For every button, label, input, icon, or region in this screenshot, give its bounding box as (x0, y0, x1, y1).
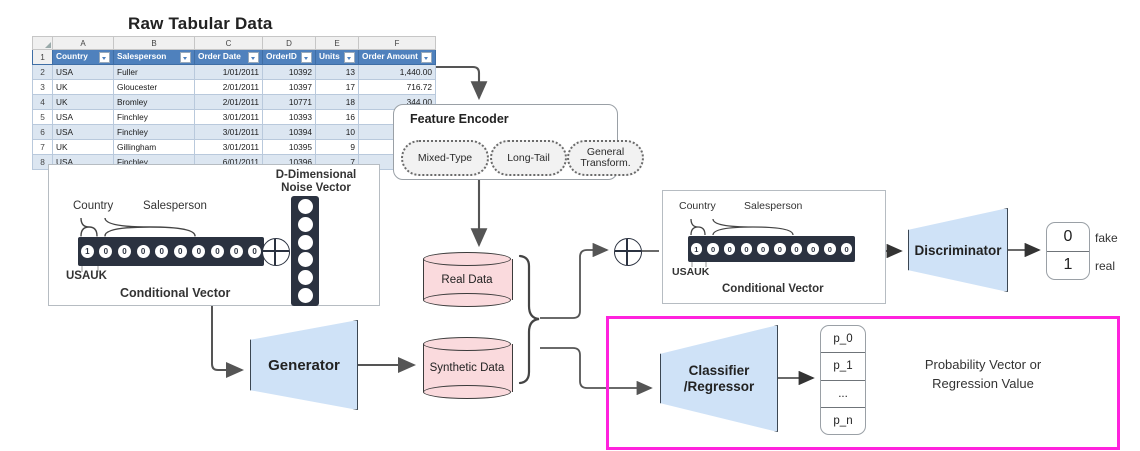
table-row[interactable]: 3 UK Gloucester 2/01/2011 10397 17 716.7… (33, 80, 436, 95)
discriminator-output-stack[interactable]: 0 1 (1046, 222, 1090, 280)
row-number[interactable]: 7 (33, 140, 53, 155)
cell-salesperson[interactable]: Fuller (114, 65, 195, 80)
table-row[interactable]: 5 USA Finchley 3/01/2011 10393 16 2,556.… (33, 110, 436, 125)
cell-orderid[interactable]: 10393 (263, 110, 316, 125)
feature-encoder-pill-general-transform[interactable]: General Transform. (567, 140, 644, 176)
row-number[interactable]: 5 (33, 110, 53, 125)
usauk-label-left: USAUK (66, 270, 107, 282)
conditional-vector-label-left: Conditional Vector (120, 286, 230, 300)
feature-encoder-title: Feature Encoder (410, 112, 509, 126)
cell-country[interactable]: USA (53, 110, 114, 125)
d-dimensional-noise-vector[interactable] (291, 196, 319, 306)
cell-units[interactable]: 16 (316, 110, 359, 125)
cell-order-date[interactable]: 3/01/2011 (195, 125, 263, 140)
discriminator-output-real-label: real (1095, 259, 1115, 273)
usauk-label-right: USAUK (672, 266, 709, 278)
cell-salesperson[interactable]: Gloucester (114, 80, 195, 95)
cell-orderid[interactable]: 10392 (263, 65, 316, 80)
vector-cell[interactable]: 0 (230, 245, 243, 258)
discriminator-output-real-value: 1 (1047, 252, 1089, 280)
probability-cell-ellipsis: ... (821, 381, 865, 408)
row-number[interactable]: 6 (33, 125, 53, 140)
cell-orderid[interactable]: 10395 (263, 140, 316, 155)
noise-dot (298, 217, 313, 232)
column-letter-row: A B C D E F (33, 37, 436, 50)
cell-units[interactable]: 17 (316, 80, 359, 95)
vector-cell[interactable]: 0 (807, 243, 819, 255)
header-cell-country[interactable]: Country (53, 50, 114, 65)
diagram-canvas: Raw Tabular Data A B C D E F 1 Country (0, 0, 1140, 451)
noise-dot (298, 270, 313, 285)
cell-country[interactable]: USA (53, 65, 114, 80)
header-cell-units[interactable]: Units (316, 50, 359, 65)
filter-dropdown-icon[interactable] (180, 52, 191, 63)
discriminator-block[interactable]: Discriminator (908, 208, 1008, 292)
cell-salesperson[interactable]: Finchley (114, 110, 195, 125)
cell-country[interactable]: UK (53, 95, 114, 110)
conditional-vector-bar-right[interactable]: 1 0 0 0 0 0 0 0 0 0 (688, 236, 855, 262)
country-group-label-right: Country (679, 200, 716, 212)
discriminator-output-fake-label: fake (1095, 231, 1118, 245)
header-cell-order-amount[interactable]: Order Amount (359, 50, 436, 65)
cell-order-amount[interactable]: 1,440.00 (359, 65, 436, 80)
table-row[interactable]: 6 USA Finchley 3/01/2011 10394 10 442.00 (33, 125, 436, 140)
vector-cell[interactable]: 0 (192, 245, 205, 258)
noise-dot (298, 235, 313, 250)
filter-dropdown-icon[interactable] (301, 52, 312, 63)
header-cell-order-date[interactable]: Order Date (195, 50, 263, 65)
vector-cell[interactable]: 0 (155, 245, 168, 258)
cell-orderid[interactable]: 10394 (263, 125, 316, 140)
cell-order-date[interactable]: 3/01/2011 (195, 110, 263, 125)
vector-cell[interactable]: 0 (841, 243, 853, 255)
col-letter[interactable]: A (53, 37, 114, 50)
header-cell-salesperson[interactable]: Salesperson (114, 50, 195, 65)
vector-cell[interactable]: 0 (137, 245, 150, 258)
row-number[interactable]: 2 (33, 65, 53, 80)
noise-dot (298, 199, 313, 214)
cell-order-date[interactable]: 3/01/2011 (195, 140, 263, 155)
vector-cell[interactable]: 1 (81, 245, 94, 258)
table-header-row: 1 Country Salesperson Order Date OrderID… (33, 50, 436, 65)
vector-cell[interactable]: 0 (724, 243, 736, 255)
cell-units[interactable]: 10 (316, 125, 359, 140)
cell-order-amount[interactable]: 716.72 (359, 80, 436, 95)
probability-vector-stack[interactable]: p_0 p_1 ... p_n (820, 325, 866, 435)
filter-dropdown-icon[interactable] (99, 52, 110, 63)
cell-country[interactable]: UK (53, 80, 114, 95)
col-letter[interactable]: B (114, 37, 195, 50)
cell-units[interactable]: 18 (316, 95, 359, 110)
vector-cell[interactable]: 0 (791, 243, 803, 255)
cell-order-date[interactable]: 2/01/2011 (195, 95, 263, 110)
sheet-corner[interactable] (33, 37, 53, 50)
probability-cell-p0: p_0 (821, 326, 865, 353)
group-braces-left (78, 212, 268, 238)
synthetic-data-store[interactable]: Synthetic Data (423, 337, 511, 399)
col-letter[interactable]: D (263, 37, 316, 50)
probability-vector-caption: Probability Vector or Regression Value (892, 355, 1074, 393)
salesperson-group-label-right: Salesperson (744, 200, 802, 212)
cell-country[interactable]: UK (53, 140, 114, 155)
salesperson-group-label-left: Salesperson (143, 200, 207, 212)
noise-dot (298, 288, 313, 303)
feature-encoder-pill-long-tail[interactable]: Long-Tail (490, 140, 567, 176)
page-title: Raw Tabular Data (128, 14, 273, 34)
vector-cell[interactable]: 0 (741, 243, 753, 255)
discriminator-output-fake-value: 0 (1047, 223, 1089, 252)
col-letter[interactable]: C (195, 37, 263, 50)
country-group-label-left: Country (73, 200, 113, 212)
cell-salesperson[interactable]: Finchley (114, 125, 195, 140)
classifier-label: Classifier/Regressor (684, 363, 755, 395)
cell-orderid[interactable]: 10397 (263, 80, 316, 95)
header-cell-orderid[interactable]: OrderID (263, 50, 316, 65)
row-number[interactable]: 1 (33, 50, 53, 65)
vector-cell[interactable]: 0 (707, 243, 719, 255)
vector-cell[interactable]: 0 (824, 243, 836, 255)
cell-order-date[interactable]: 2/01/2011 (195, 80, 263, 95)
row-number[interactable]: 4 (33, 95, 53, 110)
cell-orderid[interactable]: 10771 (263, 95, 316, 110)
col-letter[interactable]: F (359, 37, 436, 50)
vector-cell[interactable]: 0 (99, 245, 112, 258)
probability-cell-pn: p_n (821, 408, 865, 434)
group-braces-right (688, 214, 863, 237)
cell-country[interactable]: USA (53, 125, 114, 140)
vector-cell[interactable]: 0 (757, 243, 769, 255)
cell-salesperson[interactable]: Gillingham (114, 140, 195, 155)
cell-units[interactable]: 13 (316, 65, 359, 80)
table-row[interactable]: 4 UK Bromley 2/01/2011 10771 18 344.00 (33, 95, 436, 110)
generator-block[interactable]: Generator (250, 320, 358, 410)
raw-tabular-data-table[interactable]: A B C D E F 1 Country Salesperson Order … (32, 36, 436, 170)
vector-cell[interactable]: 1 (691, 243, 703, 255)
table-row[interactable]: 7 UK Gillingham 3/01/2011 10395 9 2,122.… (33, 140, 436, 155)
real-data-store[interactable]: Real Data (423, 252, 511, 307)
cell-units[interactable]: 9 (316, 140, 359, 155)
cell-order-date[interactable]: 1/01/2011 (195, 65, 263, 80)
vector-cell[interactable]: 0 (248, 245, 261, 258)
concat-plus-icon-right (614, 238, 642, 266)
table-row[interactable]: 2 USA Fuller 1/01/2011 10392 13 1,440.00 (33, 65, 436, 80)
vector-cell[interactable]: 0 (211, 245, 224, 258)
filter-dropdown-icon[interactable] (421, 52, 432, 63)
conditional-vector-bar-left[interactable]: 1 0 0 0 0 0 0 0 0 0 (78, 237, 264, 266)
row-number[interactable]: 3 (33, 80, 53, 95)
synthetic-data-label: Synthetic Data (423, 337, 511, 399)
filter-dropdown-icon[interactable] (344, 52, 355, 63)
real-data-label: Real Data (423, 252, 511, 307)
vector-cell[interactable]: 0 (118, 245, 131, 258)
vector-cell[interactable]: 0 (174, 245, 187, 258)
col-letter[interactable]: E (316, 37, 359, 50)
conditional-vector-label-right: Conditional Vector (722, 283, 824, 295)
filter-dropdown-icon[interactable] (248, 52, 259, 63)
vector-cell[interactable]: 0 (774, 243, 786, 255)
noise-dot (298, 252, 313, 267)
feature-encoder-pill-mixed-type[interactable]: Mixed-Type (401, 140, 489, 176)
noise-vector-label: D-Dimensional Noise Vector (272, 169, 360, 195)
cell-salesperson[interactable]: Bromley (114, 95, 195, 110)
concat-plus-icon-left (262, 238, 290, 266)
probability-cell-p1: p_1 (821, 353, 865, 380)
